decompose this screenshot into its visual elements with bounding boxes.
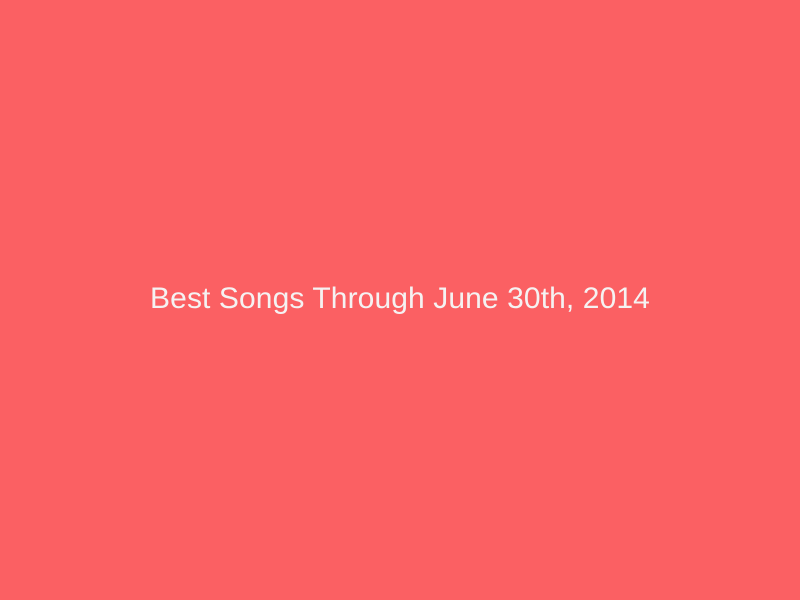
banner-canvas: Best Songs Through June 30th, 2014 (0, 0, 800, 600)
banner-title: Best Songs Through June 30th, 2014 (150, 281, 650, 317)
